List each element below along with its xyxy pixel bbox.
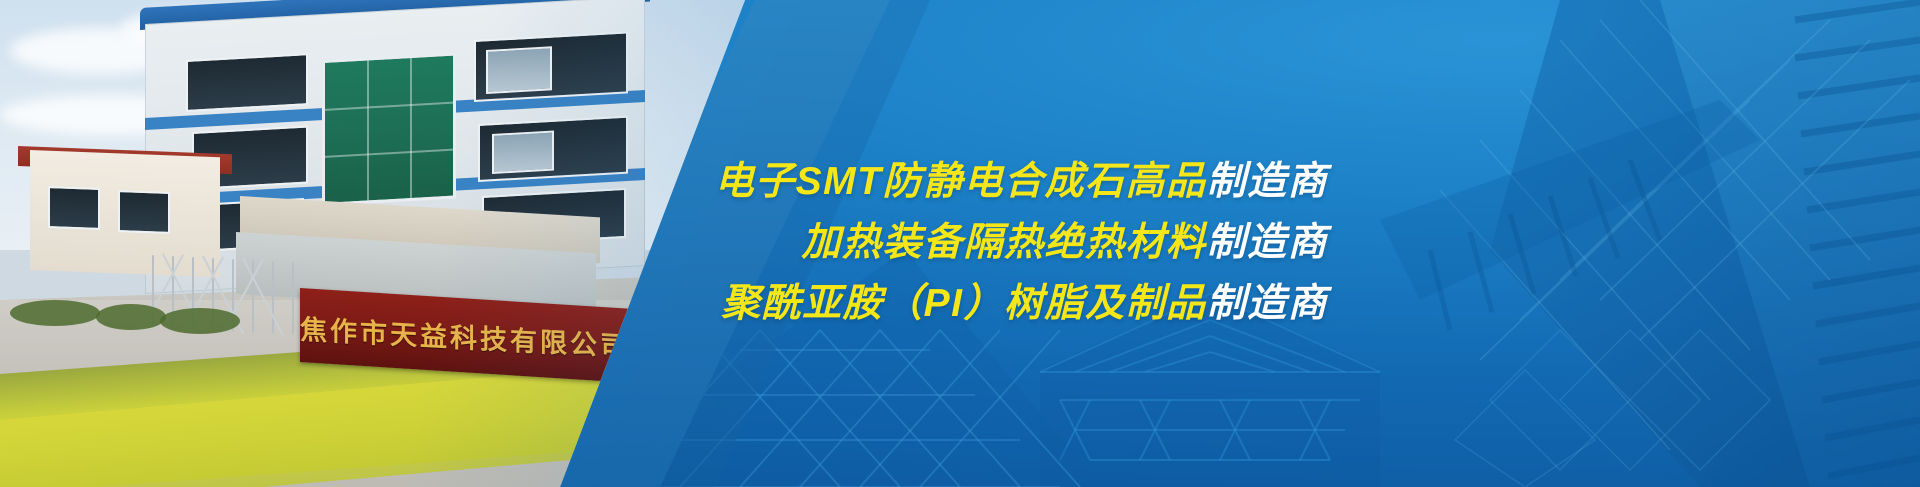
slogan-line-1: 电子SMT防静电合成石高品制造商 — [715, 162, 1328, 203]
slogan-line-1-highlight: 电子SMT防静电合成石高品 — [715, 160, 1207, 203]
slogan-line-3-highlight: 聚酰亚胺（PI）树脂及制品 — [721, 282, 1206, 325]
slogan-line-3: 聚酰亚胺（PI）树脂及制品制造商 — [721, 284, 1328, 325]
slogan-line-3-plain: 制造商 — [1206, 282, 1328, 325]
slogan-line-2-plain: 制造商 — [1206, 221, 1328, 264]
slogan-block: 电子SMT防静电合成石高品制造商 加热装备隔热绝热材料制造商 聚酰亚胺（PI）树… — [0, 0, 1920, 487]
slogan-line-2: 加热装备隔热绝热材料制造商 — [801, 223, 1328, 264]
slogan-line-1-plain: 制造商 — [1206, 160, 1328, 203]
slogan-line-2-highlight: 加热装备隔热绝热材料 — [801, 221, 1206, 264]
hero-banner: 焦作市天益科技有限公司 电子SMT防静电合成石高品制造商 加热装备隔热绝热材料制… — [0, 0, 1920, 487]
